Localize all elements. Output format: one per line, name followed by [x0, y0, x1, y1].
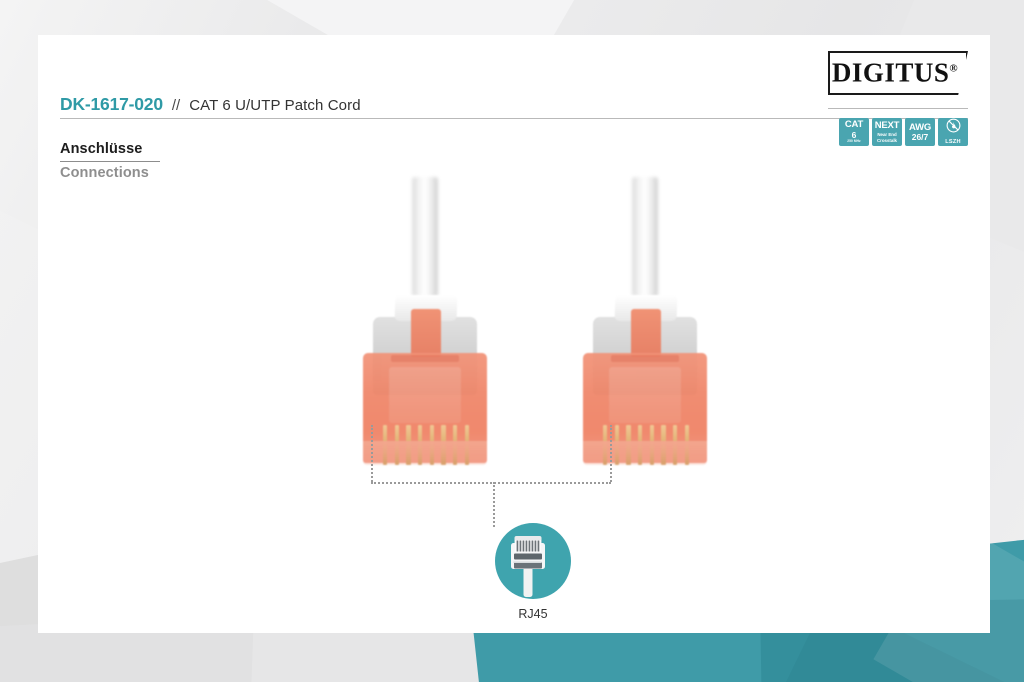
- callout-line-left-vertical: [371, 425, 373, 482]
- cat6-badge-main: CAT: [845, 120, 863, 130]
- lszh-badge-label: LSZH: [945, 140, 960, 146]
- next-badge: NEXT Near End Crosstalk: [872, 118, 902, 146]
- product-name: CAT 6 U/UTP Patch Cord: [189, 97, 360, 114]
- next-badge-main: NEXT: [875, 121, 900, 131]
- plug-skirt: [583, 441, 707, 465]
- section-heading-block: Anschlüsse Connections: [60, 140, 160, 181]
- cat6-badge-frequency: 250 MHz: [847, 140, 860, 143]
- logo-wordmark: DIGITUS®: [828, 58, 968, 89]
- rj45-connector-right: [575, 265, 715, 480]
- section-heading-underline: [60, 161, 160, 162]
- title-divider: [60, 118, 968, 119]
- rj45-plug-icon: [495, 523, 571, 599]
- awg-badge-sub: 26/7: [912, 133, 929, 142]
- product-photo: [60, 185, 968, 485]
- logo-wordmark-text: DIGITUS: [832, 58, 950, 88]
- next-badge-line2: Crosstalk: [877, 138, 897, 144]
- plug-skirt: [363, 441, 487, 465]
- plug-inner-window: [609, 367, 681, 423]
- plug-inner-window: [389, 367, 461, 423]
- section-heading-de: Anschlüsse: [60, 141, 142, 160]
- page-title: DK-1617-020 // CAT 6 U/UTP Patch Cord: [60, 94, 968, 115]
- rj45-label: RJ45: [458, 607, 608, 621]
- registered-trademark-icon: ®: [949, 63, 958, 75]
- callout-line-horizontal: [371, 482, 611, 484]
- title-separator: //: [172, 97, 180, 114]
- product-sku: DK-1617-020: [60, 94, 163, 115]
- section-heading-en: Connections: [60, 165, 160, 181]
- digitus-logo: DIGITUS®: [828, 51, 968, 95]
- lszh-badge: LSZH: [938, 118, 968, 146]
- callout-line-center-vertical: [493, 482, 495, 527]
- product-datasheet-page: DIGITUS® DK-1617-020 // CAT 6 U/UTP Patc…: [0, 0, 1024, 682]
- awg-badge-main: AWG: [909, 123, 931, 133]
- plug-slot: [391, 355, 459, 362]
- awg-badge: AWG 26/7: [905, 118, 935, 146]
- callout-line-right-vertical: [610, 425, 612, 482]
- plug-slot: [611, 355, 679, 362]
- latch-clip: [631, 309, 661, 357]
- latch-clip: [411, 309, 441, 357]
- feature-badge-group: CAT 6 250 MHz NEXT Near End Crosstalk AW…: [839, 118, 968, 146]
- rj45-connector-left: [355, 265, 495, 480]
- cat6-badge: CAT 6 250 MHz: [839, 118, 869, 146]
- cat6-badge-sub: 6: [852, 131, 857, 140]
- no-flame-icon: [946, 118, 961, 137]
- content-card: DIGITUS® DK-1617-020 // CAT 6 U/UTP Patc…: [38, 35, 990, 633]
